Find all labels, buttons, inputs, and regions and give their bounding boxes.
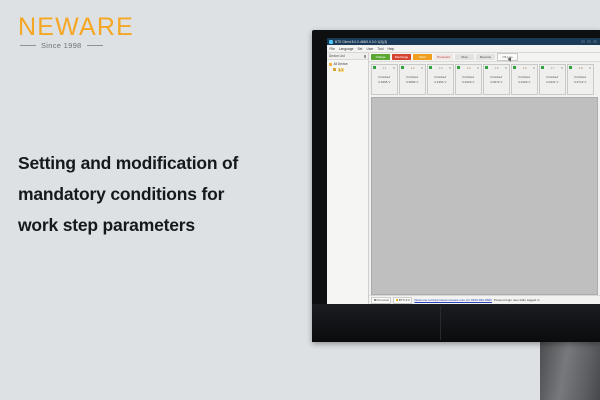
channel-card[interactable]: 1-1 Finished 4.1865 V	[371, 64, 398, 95]
unit-icon	[333, 68, 337, 71]
status-bar: Personal BTS 8.0 Welcome to https://www.…	[369, 295, 600, 304]
maximize-button[interactable]	[587, 40, 591, 43]
resume-button[interactable]: Resume	[476, 54, 495, 60]
status-indicator-icon	[541, 66, 544, 69]
app-icon	[329, 40, 333, 44]
status-chip-label: Personal	[377, 298, 389, 302]
close-button[interactable]	[593, 40, 597, 43]
channel-header: 1-3	[428, 66, 453, 70]
menu-item-user[interactable]: User	[366, 47, 373, 51]
headline-line-1: Setting and modification of	[18, 148, 288, 179]
monitor: BTS Client 8.0.0.465/0.0.0.0 1(2)(3) Fil…	[312, 30, 600, 342]
channel-header: 1-4	[456, 66, 481, 70]
channel-id: 1-7	[550, 66, 554, 70]
channel-status: Finished	[490, 75, 502, 79]
channel-body: Finished 3.9089 V	[406, 75, 418, 85]
status-indicator-icon	[513, 66, 516, 69]
menu-item-tool[interactable]: Tool	[377, 47, 383, 51]
channel-header: 1-6	[512, 66, 537, 70]
brand-wordmark: NEWARE	[18, 14, 138, 40]
window-controls[interactable]	[581, 40, 598, 43]
support-link[interactable]: Welcome to https://www.neware.com.cn/ 04…	[414, 298, 492, 302]
device-list-panel: Device List All Device 1-1	[327, 53, 369, 304]
channel-card[interactable]: 1-8 Finished 3.9712 V	[567, 64, 594, 95]
channel-status: Finished	[378, 75, 390, 79]
protected-button[interactable]: Protected	[434, 54, 453, 60]
device-tree: All Device 1-1	[327, 60, 368, 72]
channel-id: 1-6	[522, 66, 526, 70]
channel-card[interactable]: 1-4 Finished 3.9429 V	[455, 64, 482, 95]
channel-card[interactable]: 1-3 Finished 4.1954 V	[427, 64, 454, 95]
poster-canvas: NEWARE Since 1998 Setting and modificati…	[0, 0, 600, 400]
window-title: BTS Client 8.0.0.465/0.0.0.0 1(2)(3)	[335, 40, 387, 44]
menu-item-language[interactable]: Language	[339, 47, 354, 51]
page-title: Setting and modification of mandatory co…	[18, 148, 288, 241]
channel-header: 1-1	[372, 66, 397, 70]
channel-grid: 1-1 Finished 4.1865 V 1-2	[369, 62, 600, 97]
channel-id: 1-3	[438, 66, 442, 70]
pin-icon[interactable]	[364, 55, 366, 58]
status-chip-label: BTS 8.0	[399, 298, 410, 302]
channel-status: Finished	[434, 75, 446, 79]
channel-id: 1-1	[382, 66, 386, 70]
channel-id: 1-5	[494, 66, 498, 70]
tree-node-label: 1-1	[338, 68, 345, 72]
channel-body: Finished 4.0431 V	[546, 75, 558, 85]
channel-card[interactable]: 1-6 Finished 4.2409 V	[511, 64, 538, 95]
warning-icon	[396, 299, 398, 301]
monitor-chin-divider	[440, 306, 441, 340]
chart-canvas-area[interactable]	[371, 97, 598, 296]
channel-status: Finished	[518, 75, 530, 79]
status-indicator-icon	[569, 66, 572, 69]
status-chip-personal[interactable]: Personal	[371, 297, 391, 304]
channel-voltage: 3.9089 V	[406, 80, 418, 84]
channel-body: Finished 4.0974 V	[490, 75, 502, 85]
channel-body: Finished 4.2409 V	[518, 75, 530, 85]
brand-tagline: Since 1998	[41, 41, 82, 50]
monitor-chin	[312, 304, 600, 342]
status-indicator-icon	[401, 66, 404, 69]
channel-card[interactable]: 1-2 Finished 3.9089 V	[399, 64, 426, 95]
discharge-button[interactable]: Discharge	[392, 54, 411, 60]
tree-node-unit-1-1[interactable]: 1-1	[329, 68, 367, 72]
channel-status: Finished	[406, 75, 418, 79]
channel-voltage: 4.2409 V	[518, 80, 530, 84]
status-indicator-icon	[457, 66, 460, 69]
device-icon	[329, 63, 333, 66]
brand-tagline-row: Since 1998	[18, 41, 138, 50]
content-panel: Charge Discharge Rest Protected Stop Res…	[369, 53, 600, 304]
channel-card[interactable]: 1-5 Finished 4.0974 V	[483, 64, 510, 95]
application-window: BTS Client 8.0.0.465/0.0.0.0 1(2)(3) Fil…	[327, 38, 600, 304]
tagline-rule-right	[87, 45, 103, 46]
channel-corner-icon	[533, 67, 535, 69]
channel-corner-icon	[449, 67, 451, 69]
channel-header: 1-8	[568, 66, 593, 70]
headline-line-3: work step parameters	[18, 210, 288, 241]
work-area: Device List All Device 1-1	[327, 53, 600, 304]
channel-corner-icon	[589, 67, 591, 69]
channel-id: 1-2	[410, 66, 414, 70]
charge-button[interactable]: Charge	[371, 54, 390, 60]
channel-header: 1-7	[540, 66, 565, 70]
tagline-rule-left	[20, 45, 36, 46]
channel-voltage: 3.9712 V	[574, 80, 586, 84]
status-indicator-icon	[429, 66, 432, 69]
tree-node-label: All Device	[334, 62, 348, 66]
channel-voltage: 4.1954 V	[434, 80, 446, 84]
tree-node-all-device[interactable]: All Device	[329, 62, 367, 66]
channel-header: 1-5	[484, 66, 509, 70]
channel-card[interactable]: 1-7 Finished 4.0431 V	[539, 64, 566, 95]
status-indicator-icon	[485, 66, 488, 69]
channel-corner-icon	[393, 67, 395, 69]
channel-voltage: 4.1865 V	[378, 80, 390, 84]
rest-button[interactable]: Rest	[413, 54, 432, 60]
channel-voltage: 3.9429 V	[462, 80, 474, 84]
channel-corner-icon	[477, 67, 479, 69]
channel-status: Finished	[462, 75, 474, 79]
channel-corner-icon	[561, 67, 563, 69]
menu-item-help[interactable]: Help	[387, 47, 394, 51]
logged-in-user: Present login user:Adm logged in	[494, 298, 540, 302]
channel-header: 1-2	[400, 66, 425, 70]
channel-id: 1-8	[578, 66, 582, 70]
menu-item-set[interactable]: Set	[357, 47, 362, 51]
window-titlebar: BTS Client 8.0.0.465/0.0.0.0 1(2)(3)	[327, 38, 600, 45]
channel-body: Finished 3.9429 V	[462, 75, 474, 85]
menu-item-file[interactable]: File	[330, 47, 335, 51]
channel-status: Finished	[546, 75, 558, 79]
personal-icon	[374, 299, 376, 301]
channel-id: 1-4	[466, 66, 470, 70]
channel-body: Finished 4.1954 V	[434, 75, 446, 85]
channel-voltage: 4.0431 V	[546, 80, 558, 84]
neware-logo: NEWARE Since 1998	[18, 14, 138, 50]
status-chip-version[interactable]: BTS 8.0	[393, 297, 412, 304]
channel-voltage: 4.0974 V	[490, 80, 502, 84]
minimize-button[interactable]	[581, 40, 585, 43]
headline-line-2: mandatory conditions for	[18, 179, 288, 210]
device-list-header: Device List	[327, 53, 368, 60]
menu-bar: File Language Set User Tool Help	[327, 45, 600, 53]
channel-body: Finished 4.1865 V	[378, 75, 390, 85]
stop-button[interactable]: Stop	[455, 54, 474, 60]
device-list-title: Device List	[329, 54, 345, 58]
channel-status: Finished	[574, 75, 586, 79]
action-toolbar: Charge Discharge Rest Protected Stop Res…	[369, 53, 600, 62]
channel-corner-icon	[505, 67, 507, 69]
channel-body: Finished 3.9712 V	[574, 75, 586, 85]
status-indicator-icon	[373, 66, 376, 69]
channel-corner-icon	[421, 67, 423, 69]
